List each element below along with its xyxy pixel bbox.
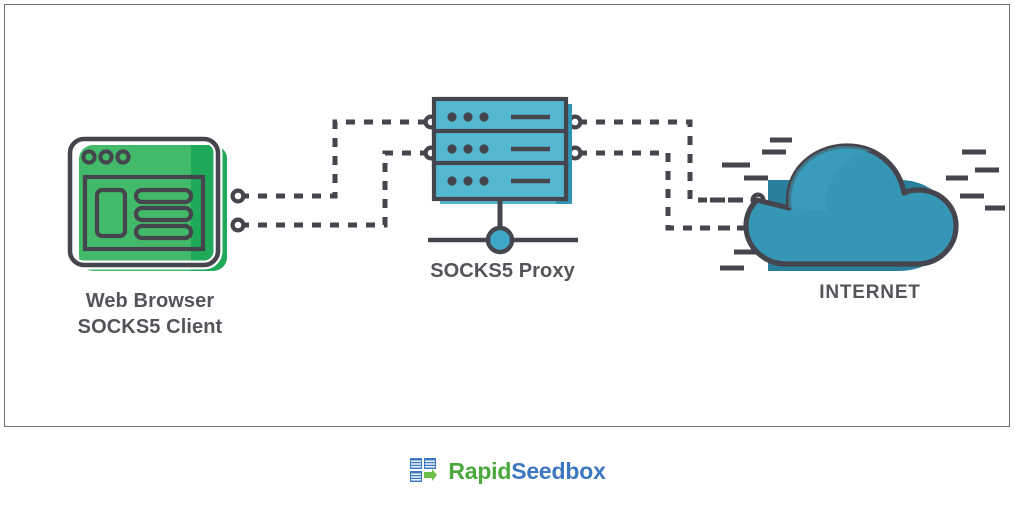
server-stack-icon bbox=[428, 99, 578, 252]
browser-label: Web Browser SOCKS5 Client bbox=[20, 288, 280, 341]
proxy-label: SOCKS5 Proxy bbox=[400, 258, 605, 284]
rapidseedbox-logo-icon bbox=[409, 456, 439, 486]
internet-label: INTERNET bbox=[790, 280, 950, 305]
connector-browser-to-proxy-upper bbox=[240, 122, 428, 196]
cloud-icon bbox=[746, 146, 956, 271]
server-unit-3 bbox=[434, 163, 572, 204]
diagram-stage: Web Browser SOCKS5 Client SOCKS5 Proxy I… bbox=[0, 0, 1015, 511]
socks5-flow-diagram bbox=[0, 0, 1015, 430]
brand-seedbox: Seedbox bbox=[511, 458, 605, 484]
server-stand bbox=[428, 199, 578, 252]
rapidseedbox-wordmark: RapidSeedbox bbox=[448, 460, 605, 483]
brand-rapid: Rapid bbox=[448, 458, 511, 484]
connector-endpoint-browser-lower bbox=[233, 220, 244, 231]
rapidseedbox-logo: RapidSeedbox bbox=[0, 449, 1015, 493]
web-browser-icon bbox=[70, 139, 227, 271]
connector-endpoint-browser-upper bbox=[233, 191, 244, 202]
